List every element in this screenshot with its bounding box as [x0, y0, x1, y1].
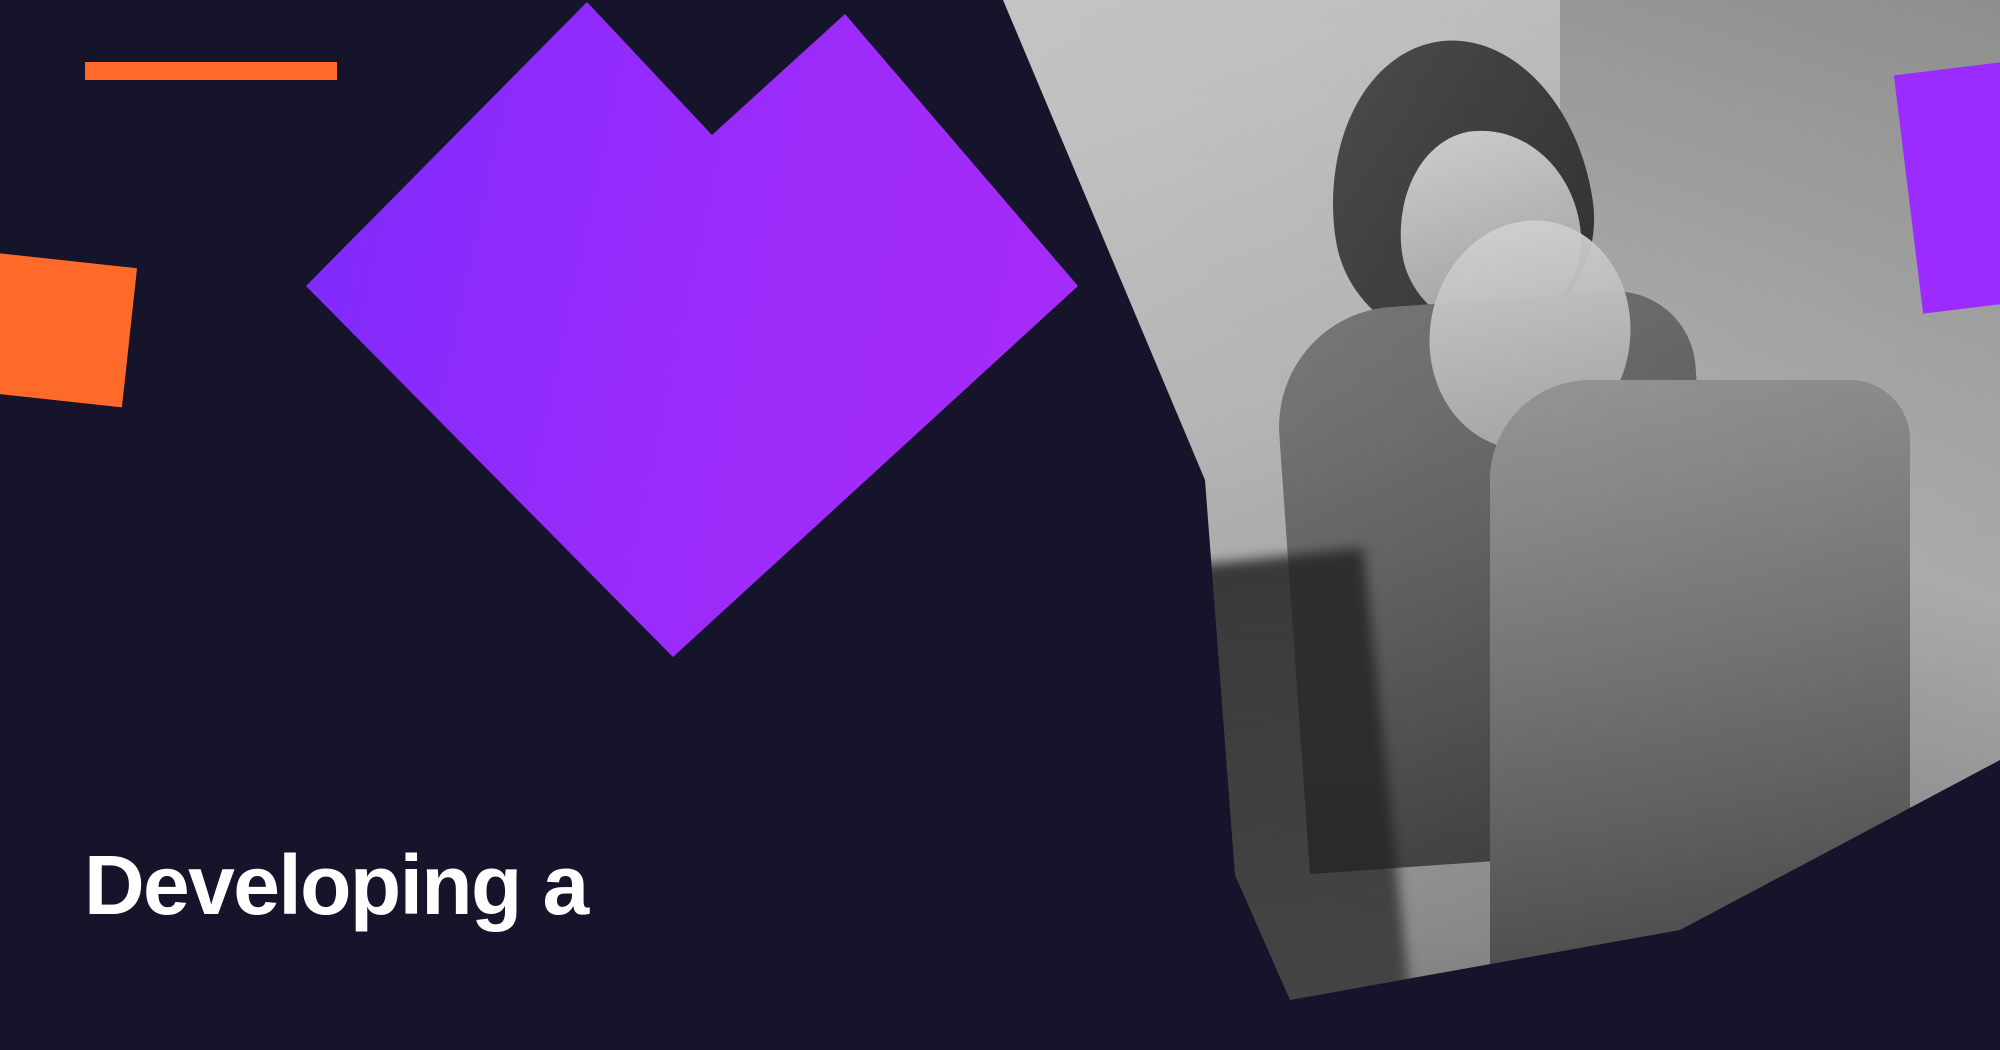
page-title: Developing a successful accountability s…	[84, 665, 1020, 1050]
photo-colleague-arm	[24, 402, 196, 538]
m-monogram-icon	[0, 0, 1100, 680]
orange-rule	[85, 62, 337, 80]
photo-colleague-bracelet	[130, 433, 210, 526]
photo-colleague-hand	[123, 412, 397, 567]
headline-line-1: Developing a	[84, 841, 1020, 929]
hero-banner: Developing a successful accountability s…	[0, 0, 2000, 1050]
orange-square	[0, 249, 137, 408]
photo-lace-texture	[68, 0, 192, 194]
